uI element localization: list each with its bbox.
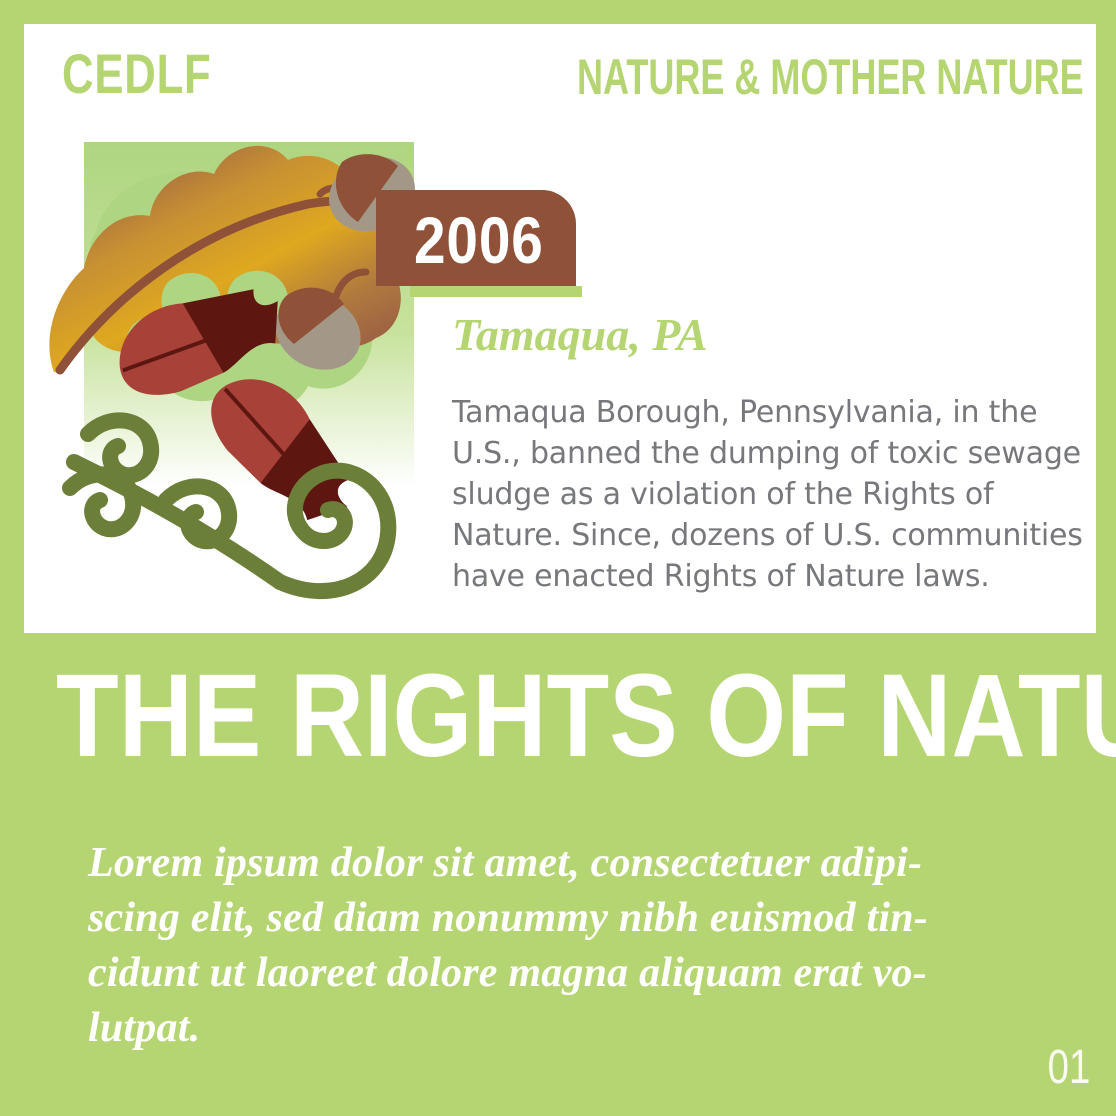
page-number: 01 [1047, 1044, 1090, 1092]
infographic-poster: CEDLF NATURE & MOTHER NATURE [0, 0, 1116, 1116]
lorem-paragraph: Lorem ipsum dolor sit amet, consectetuer… [88, 836, 1053, 1056]
lorem-line: scing elit, sed diam nonummy nibh euismo… [88, 891, 1053, 946]
illustration-autumn-oak [36, 82, 436, 627]
year-underline-rule [410, 286, 582, 297]
content-card: CEDLF NATURE & MOTHER NATURE [24, 24, 1096, 633]
year-label: 2006 [414, 207, 544, 273]
lorem-line: Lorem ipsum dolor sit amet, consectetuer… [88, 836, 1053, 891]
page-title: THE RIGHTS OF NATURE [56, 660, 935, 772]
location-label: Tamaqua, PA [452, 310, 708, 360]
category-kicker: NATURE & MOTHER NATURE [577, 52, 1084, 102]
body-paragraph: Tamaqua Borough, Pennsylvania, in the U.… [452, 392, 1092, 597]
lorem-line: cidunt ut laoreet dolore magna aliquam e… [88, 946, 1053, 1001]
lorem-line: lutpat. [88, 1001, 1053, 1056]
